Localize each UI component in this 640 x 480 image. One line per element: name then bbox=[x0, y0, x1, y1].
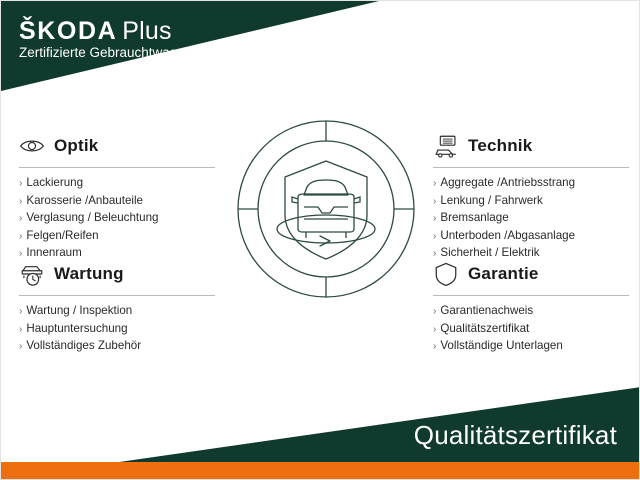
list-item-label: Unterboden /Abgasanlage bbox=[440, 228, 575, 245]
list-item-label: Wartung / Inspektion bbox=[26, 303, 132, 320]
list-item-label: Hauptuntersuchung bbox=[26, 321, 127, 338]
section-wartung-list: ›Wartung / Inspektion ›Hauptuntersuchung… bbox=[19, 303, 215, 356]
chevron-right-icon: › bbox=[433, 339, 436, 356]
list-item: ›Vollständiges Zubehör bbox=[19, 338, 215, 356]
section-garantie-header: Garantie bbox=[433, 259, 629, 289]
section-garantie-list: ›Garantienachweis ›Qualitätszertifikat ›… bbox=[433, 303, 629, 356]
list-item: ›Unterboden /Abgasanlage bbox=[433, 228, 629, 246]
section-technik-divider bbox=[433, 167, 629, 168]
list-item: ›Qualitätszertifikat bbox=[433, 321, 629, 339]
list-item-label: Vollständige Unterlagen bbox=[440, 338, 562, 355]
list-item-label: Felgen/Reifen bbox=[26, 228, 98, 245]
list-item: ›Verglasung / Beleuchtung bbox=[19, 210, 215, 228]
section-garantie-divider bbox=[433, 295, 629, 296]
shield-car-rotation-emblem bbox=[236, 119, 416, 299]
section-optik-list: ›Lackierung ›Karosserie /Anbauteile ›Ver… bbox=[19, 175, 215, 263]
section-optik-header: Optik bbox=[19, 131, 215, 161]
brand-logo: ŠKODAPlus Zertifizierte Gebrauchtwagen bbox=[19, 18, 192, 62]
list-item: ›Vollständige Unterlagen bbox=[433, 338, 629, 356]
section-technik-header: Technik bbox=[433, 131, 629, 161]
section-wartung: Wartung ›Wartung / Inspektion ›Hauptunte… bbox=[19, 259, 215, 356]
list-item-label: Garantienachweis bbox=[440, 303, 533, 320]
car-lift-icon bbox=[433, 133, 459, 159]
list-item-label: Verglasung / Beleuchtung bbox=[26, 210, 158, 227]
section-optik: Optik ›Lackierung ›Karosserie /Anbauteil… bbox=[19, 131, 215, 263]
section-garantie: Garantie ›Garantienachweis ›Qualitätszer… bbox=[433, 259, 629, 356]
list-item: ›Lenkung / Fahrwerk bbox=[433, 193, 629, 211]
list-item: ›Bremsanlage bbox=[433, 210, 629, 228]
chevron-right-icon: › bbox=[433, 229, 436, 246]
chevron-right-icon: › bbox=[433, 304, 436, 321]
list-item-label: Bremsanlage bbox=[440, 210, 508, 227]
footer-orange-bar bbox=[1, 462, 640, 479]
chevron-right-icon: › bbox=[19, 194, 22, 211]
logo-skoda-text: ŠKODA bbox=[19, 17, 117, 45]
footer-title: Qualitätszertifikat bbox=[414, 420, 617, 451]
list-item-label: Aggregate /Antriebsstrang bbox=[440, 175, 575, 192]
list-item-label: Karosserie /Anbauteile bbox=[26, 193, 143, 210]
logo-plus-text: Plus bbox=[122, 17, 171, 45]
list-item: ›Karosserie /Anbauteile bbox=[19, 193, 215, 211]
chevron-right-icon: › bbox=[19, 339, 22, 356]
chevron-right-icon: › bbox=[19, 304, 22, 321]
section-wartung-header: Wartung bbox=[19, 259, 215, 289]
section-wartung-divider bbox=[19, 295, 215, 296]
section-technik-title: Technik bbox=[468, 136, 532, 156]
chevron-right-icon: › bbox=[19, 229, 22, 246]
quality-certificate-page: ŠKODAPlus Zertifizierte Gebrauchtwagen O… bbox=[0, 0, 640, 480]
chevron-right-icon: › bbox=[433, 211, 436, 228]
list-item: ›Garantienachweis bbox=[433, 303, 629, 321]
list-item-label: Lackierung bbox=[26, 175, 83, 192]
chevron-right-icon: › bbox=[19, 176, 22, 193]
list-item: ›Lackierung bbox=[19, 175, 215, 193]
list-item: ›Felgen/Reifen bbox=[19, 228, 215, 246]
list-item-label: Qualitätszertifikat bbox=[440, 321, 529, 338]
eye-icon bbox=[19, 133, 45, 159]
section-optik-divider bbox=[19, 167, 215, 168]
list-item: ›Aggregate /Antriebsstrang bbox=[433, 175, 629, 193]
section-wartung-title: Wartung bbox=[54, 264, 124, 284]
list-item-label: Vollständiges Zubehör bbox=[26, 338, 141, 355]
chevron-right-icon: › bbox=[19, 322, 22, 339]
chevron-right-icon: › bbox=[433, 322, 436, 339]
section-optik-title: Optik bbox=[54, 136, 98, 156]
logo-wordmark: ŠKODAPlus bbox=[19, 18, 192, 44]
car-clock-icon bbox=[19, 261, 45, 287]
shield-icon bbox=[433, 261, 459, 287]
list-item: ›Wartung / Inspektion bbox=[19, 303, 215, 321]
section-technik: Technik ›Aggregate /Antriebsstrang ›Lenk… bbox=[433, 131, 629, 263]
logo-tagline: Zertifizierte Gebrauchtwagen bbox=[19, 45, 192, 62]
list-item: ›Hauptuntersuchung bbox=[19, 321, 215, 339]
section-garantie-title: Garantie bbox=[468, 264, 539, 284]
chevron-right-icon: › bbox=[19, 211, 22, 228]
section-technik-list: ›Aggregate /Antriebsstrang ›Lenkung / Fa… bbox=[433, 175, 629, 263]
list-item-label: Lenkung / Fahrwerk bbox=[440, 193, 542, 210]
chevron-right-icon: › bbox=[433, 176, 436, 193]
chevron-right-icon: › bbox=[433, 194, 436, 211]
footer-green-wedge bbox=[1, 359, 640, 479]
